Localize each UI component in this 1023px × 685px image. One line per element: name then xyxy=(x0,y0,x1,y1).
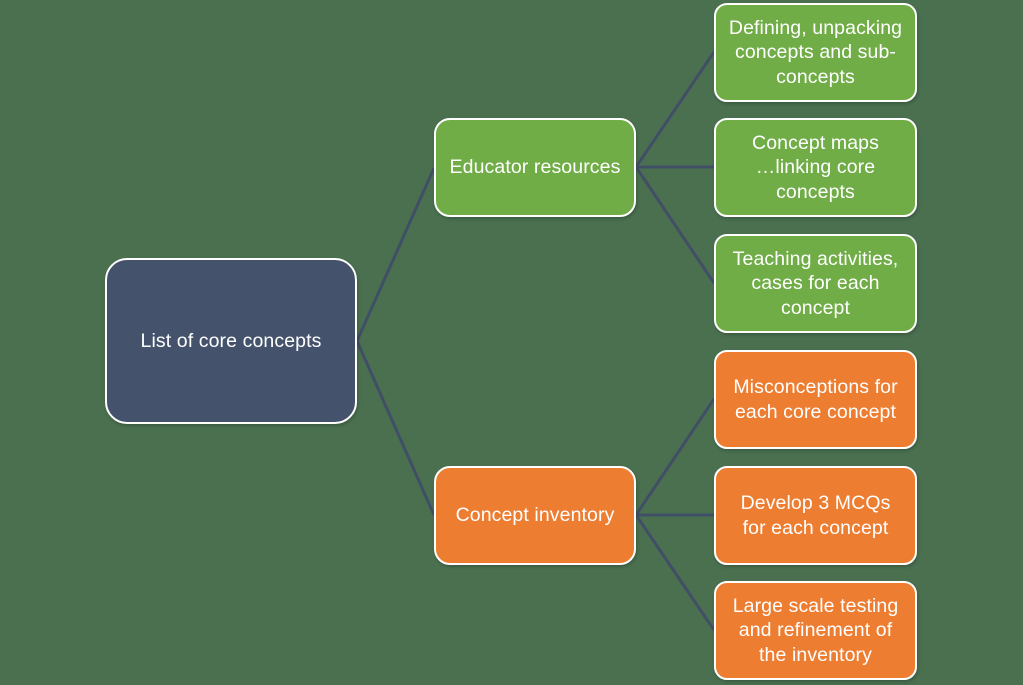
node-label: Concept inventory xyxy=(446,503,624,527)
connector-inventory-to-misconceptions xyxy=(636,399,714,515)
diagram-canvas: List of core concepts Educator resources… xyxy=(0,0,1023,685)
connector-root-to-educator-resources xyxy=(357,168,434,341)
connector-educator-to-defining-unpacking xyxy=(636,52,714,167)
node-develop-mcqs[interactable]: Develop 3 MCQs for each concept xyxy=(714,466,917,565)
node-label: Misconceptions for each core concept xyxy=(726,375,905,423)
node-educator-resources[interactable]: Educator resources xyxy=(434,118,636,217)
node-label: Large scale testing and refinement of th… xyxy=(726,594,905,667)
connector-inventory-to-large-scale-testing xyxy=(636,515,714,630)
node-label: Develop 3 MCQs for each concept xyxy=(726,491,905,539)
node-large-scale-testing[interactable]: Large scale testing and refinement of th… xyxy=(714,581,917,680)
connector-educator-to-teaching-activities xyxy=(636,167,714,283)
connector-root-to-concept-inventory xyxy=(357,341,434,515)
node-label: Teaching activities, cases for each conc… xyxy=(726,247,905,320)
node-label: List of core concepts xyxy=(117,329,345,353)
node-list-of-core-concepts[interactable]: List of core concepts xyxy=(105,258,357,424)
node-concept-maps[interactable]: Concept maps …linking core concepts xyxy=(714,118,917,217)
node-label: Concept maps …linking core concepts xyxy=(726,131,905,204)
node-teaching-activities[interactable]: Teaching activities, cases for each conc… xyxy=(714,234,917,333)
node-label: Defining, unpacking concepts and sub- co… xyxy=(726,16,905,89)
node-concept-inventory[interactable]: Concept inventory xyxy=(434,466,636,565)
node-defining-unpacking-concepts[interactable]: Defining, unpacking concepts and sub- co… xyxy=(714,3,917,102)
node-label: Educator resources xyxy=(446,155,624,179)
node-misconceptions[interactable]: Misconceptions for each core concept xyxy=(714,350,917,449)
